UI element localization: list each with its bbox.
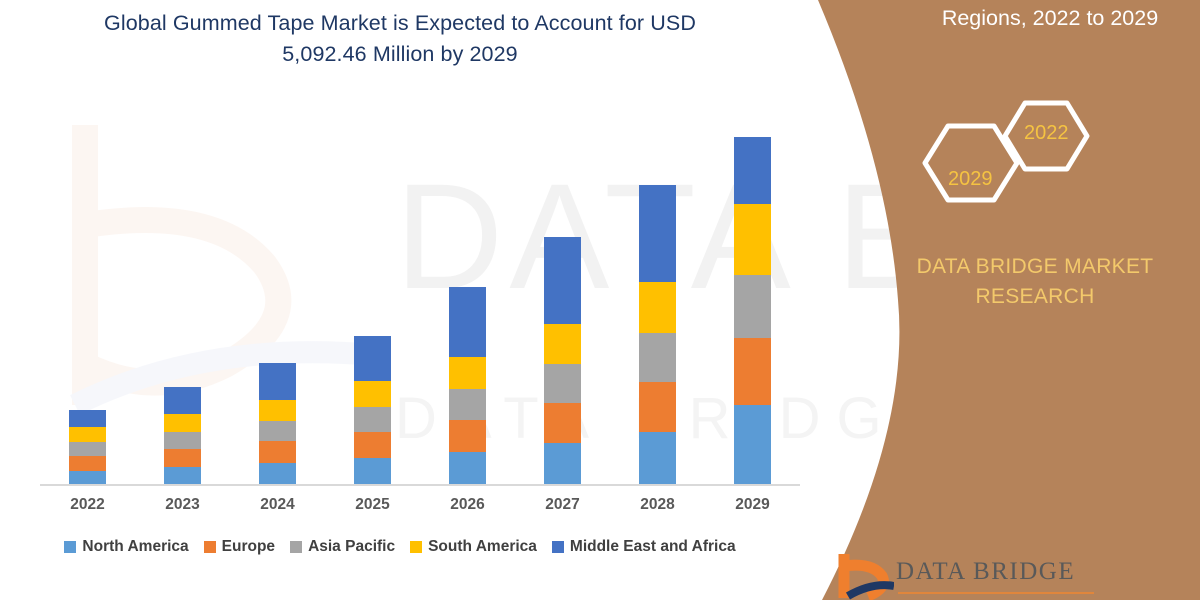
bar-column: [259, 363, 296, 485]
bar-segment: [164, 387, 201, 414]
bar-segment: [639, 282, 676, 333]
legend-item[interactable]: South America: [410, 538, 537, 556]
bar-segment: [354, 407, 391, 432]
right-panel-title: Market, by Regions, 2022 to 2029: [900, 0, 1200, 34]
bar-segment: [639, 432, 676, 485]
bar-segment: [69, 427, 106, 442]
brand-name: DATA BRIDGE MARKET RESEARCH: [890, 252, 1180, 312]
databridge-logo-text: DATA BRIDGE: [896, 558, 1075, 586]
bar-segment: [164, 414, 201, 432]
x-axis-line: [40, 484, 800, 486]
bar-segment: [164, 449, 201, 467]
bar-segment: [544, 403, 581, 443]
legend-item[interactable]: Asia Pacific: [290, 538, 395, 556]
legend-swatch-icon: [290, 541, 302, 553]
legend-label: Asia Pacific: [308, 538, 395, 556]
x-axis-label: 2024: [248, 496, 308, 514]
legend-item[interactable]: Middle East and Africa: [552, 538, 736, 556]
bar-segment: [164, 432, 201, 449]
bar-segment: [69, 456, 106, 471]
brand-line1: DATA BRIDGE MARKET: [917, 255, 1154, 278]
screenshot-stage: DATA BRIDGE DATA BRIDGE MARKET RESEARCH …: [0, 0, 1200, 600]
bar-column: [639, 185, 676, 485]
legend-label: Europe: [222, 538, 275, 556]
bar-segment: [544, 364, 581, 403]
hexagon-2022-label: 2022: [1024, 122, 1069, 145]
bar-segment: [544, 237, 581, 324]
legend-swatch-icon: [64, 541, 76, 553]
bar-segment: [354, 432, 391, 458]
bar-segment: [639, 333, 676, 382]
right-panel-content: Market, by Regions, 2022 to 2029 2029 20…: [760, 0, 1200, 600]
bar-segment: [449, 452, 486, 485]
bar-segment: [449, 357, 486, 389]
bar-segment: [354, 381, 391, 407]
legend-label: North America: [82, 538, 188, 556]
right-panel-title-line2: Regions, 2022 to 2029: [942, 6, 1158, 30]
bar-column: [449, 287, 486, 485]
databridge-logo-rule: [898, 592, 1094, 594]
bar-segment: [69, 471, 106, 485]
chart-title-line2: 5,092.46 Million by 2029: [282, 42, 517, 66]
chart-title-line1: Global Gummed Tape Market is Expected to…: [104, 11, 696, 35]
chart-legend: North AmericaEuropeAsia PacificSouth Ame…: [0, 538, 800, 556]
bar-segment: [259, 363, 296, 400]
legend-label: Middle East and Africa: [570, 538, 736, 556]
bar-segment: [449, 420, 486, 452]
bar-segment: [449, 287, 486, 357]
legend-swatch-icon: [552, 541, 564, 553]
x-axis-label: 2026: [438, 496, 498, 514]
bar-segment: [69, 410, 106, 427]
bar-segment: [69, 442, 106, 456]
x-axis-label: 2025: [343, 496, 403, 514]
databridge-logo-icon: [838, 552, 894, 600]
bar-segment: [544, 443, 581, 485]
plot-area: [40, 100, 800, 485]
bar-segment: [449, 389, 486, 420]
bar-segment: [639, 382, 676, 432]
bar-column: [354, 336, 391, 485]
hexagon-pair-graphic: [915, 88, 1105, 218]
x-axis-labels: 20222023202420252026202720282029: [40, 496, 800, 522]
bar-segment: [259, 421, 296, 441]
x-axis-label: 2022: [58, 496, 118, 514]
databridge-logo: DATA BRIDGE: [838, 552, 1098, 600]
bar-column: [164, 387, 201, 485]
bar-column: [544, 237, 581, 485]
legend-item[interactable]: Europe: [204, 538, 275, 556]
brand-line2: RESEARCH: [975, 285, 1094, 308]
bar-segment: [259, 400, 296, 421]
chart-title: Global Gummed Tape Market is Expected to…: [60, 8, 740, 70]
bar-column: [69, 410, 106, 485]
bar-segment: [164, 467, 201, 485]
legend-swatch-icon: [204, 541, 216, 553]
legend-swatch-icon: [410, 541, 422, 553]
x-axis-label: 2027: [533, 496, 593, 514]
bar-segment: [259, 441, 296, 463]
bar-segment: [544, 324, 581, 364]
bar-segment: [354, 336, 391, 381]
legend-item[interactable]: North America: [64, 538, 188, 556]
hexagon-2029-label: 2029: [948, 168, 993, 191]
bar-segment: [639, 185, 676, 282]
bar-segment: [354, 458, 391, 485]
x-axis-label: 2023: [153, 496, 213, 514]
legend-label: South America: [428, 538, 537, 556]
x-axis-label: 2028: [628, 496, 688, 514]
bar-segment: [259, 463, 296, 485]
